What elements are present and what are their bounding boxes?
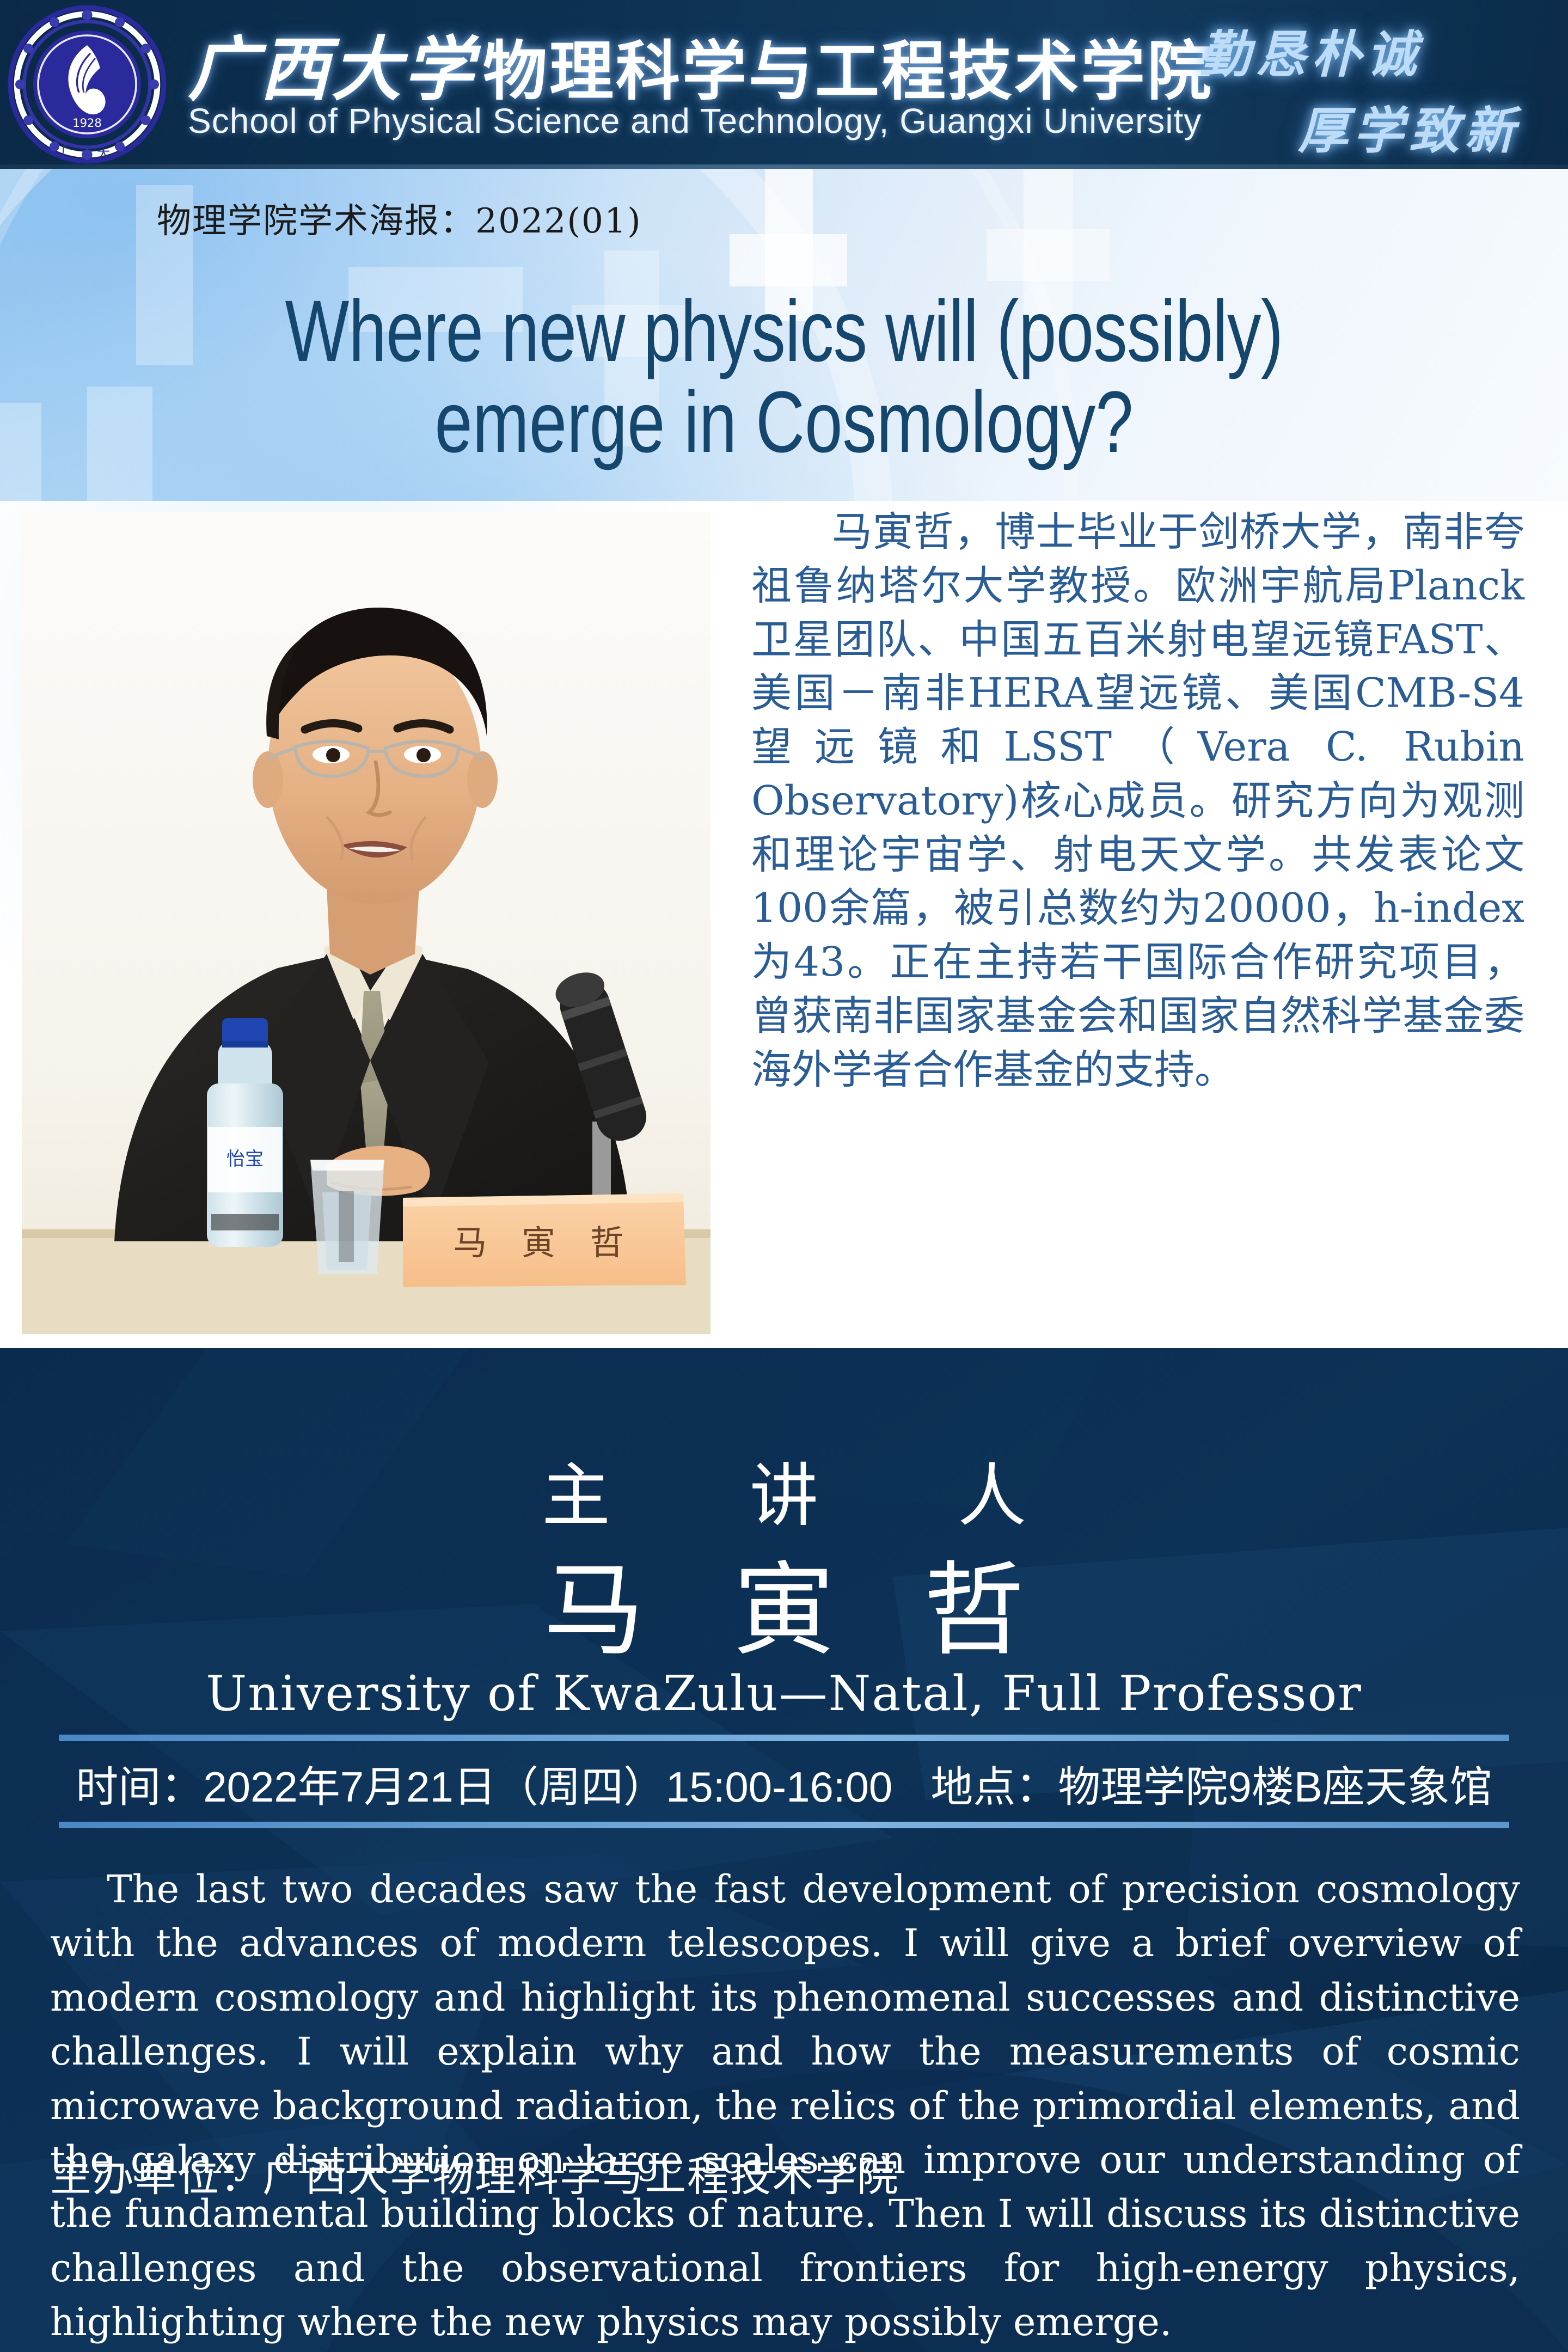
divider-top: [59, 1735, 1509, 1741]
speaker-photo: 怡宝 马 寅 哲: [22, 512, 710, 1334]
poster-header: 1928 广 大 广西大学物理科学与工程技术学院 School of Physi…: [0, 0, 1568, 169]
speaker-name: 马 寅 哲: [0, 1528, 1568, 1675]
decorative-bar: [730, 234, 847, 286]
svg-text:广: 广: [61, 143, 74, 158]
svg-text:1928: 1928: [72, 117, 101, 130]
speaker-role-label: 主 讲 人: [0, 1441, 1568, 1540]
event-time-label: 时间：: [76, 1763, 203, 1811]
speaker-portrait-image: 怡宝 马 寅 哲: [22, 512, 710, 1334]
school-name-cn: 物理科学与工程技术学院: [483, 33, 1214, 109]
talk-abstract: The last two decades saw the fast develo…: [50, 1863, 1520, 2350]
speaker-bio-section: 怡宝 马 寅 哲 马寅哲，博士毕业于剑桥大学，南非夸祖鲁纳塔尔: [0, 501, 1568, 1348]
event-details-section: 主 讲 人 马 寅 哲 University of KwaZulu—Natal,…: [0, 1348, 1568, 2352]
poster-series-label: 物理学院学术海报：2022(01): [157, 193, 642, 243]
decorative-bar: [87, 387, 152, 501]
event-place-value: 物理学院9楼B座天象馆: [1058, 1763, 1492, 1811]
motto-line-2: 厚学致新: [1298, 90, 1520, 163]
event-time-place: 时间：2022年7月21日（周四）15:00-16:00地点：物理学院9楼B座天…: [0, 1753, 1568, 1814]
school-name-en: School of Physical Science and Technolog…: [188, 101, 1202, 141]
header-chinese-title: 广西大学物理科学与工程技术学院: [188, 13, 1214, 114]
divider-bottom: [59, 1822, 1509, 1828]
motto-line-1: 勤恳朴诚: [1200, 14, 1422, 87]
guangxi-university-logo-icon: 1928 广 大: [5, 3, 169, 166]
page-title-line-1: Where new physics will (possibly): [232, 287, 1336, 375]
academic-poster: 1928 广 大 广西大学物理科学与工程技术学院 School of Physi…: [0, 0, 1568, 2352]
svg-text:马 寅 哲: 马 寅 哲: [453, 1223, 635, 1263]
svg-text:大: 大: [97, 146, 110, 161]
svg-text:怡宝: 怡宝: [226, 1148, 264, 1170]
organizer-line: 主办单位：广西大学物理科学与工程技术学院: [50, 2143, 899, 2203]
speaker-affiliation: University of KwaZulu—Natal, Full Profes…: [0, 1665, 1568, 1722]
event-place-label: 地点：: [930, 1763, 1058, 1811]
page-title-line-2: emerge in Cosmology?: [232, 378, 1336, 465]
university-name-cn: 广西大学: [188, 29, 483, 111]
decorative-bar: [987, 229, 1110, 281]
university-motto: 勤恳朴诚 厚学致新: [1162, 9, 1543, 161]
decorative-bar: [0, 403, 41, 501]
event-time-value: 2022年7月21日（周四）15:00-16:00: [203, 1763, 892, 1811]
speaker-biography: 马寅哲，博士毕业于剑桥大学，南非夸祖鲁纳塔尔大学教授。欧洲宇航局Planck卫星…: [751, 505, 1524, 1097]
